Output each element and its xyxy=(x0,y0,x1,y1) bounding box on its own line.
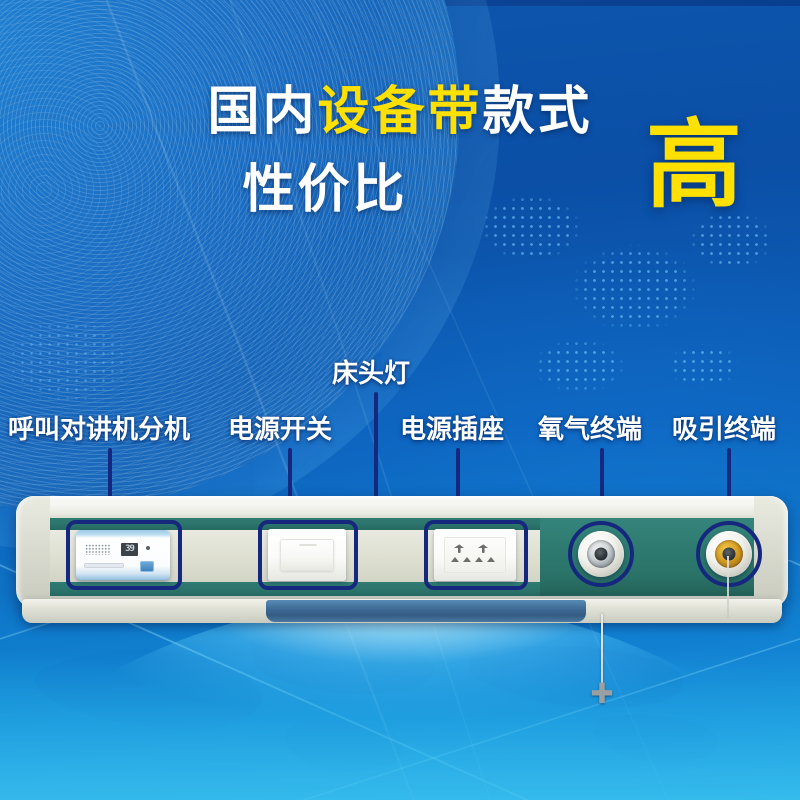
highlight-box-power-switch xyxy=(258,520,358,590)
callout-label-bedside-lamp: 床头灯 xyxy=(332,360,410,386)
bottom-glow-fill xyxy=(0,650,800,800)
highlight-circle-oxygen xyxy=(568,521,634,587)
highlight-box-intercom xyxy=(66,520,182,590)
callout-label-power-switch: 电源开关 xyxy=(228,416,332,442)
highlight-box-power-socket xyxy=(424,520,528,590)
pull-cord[interactable] xyxy=(601,614,603,688)
bedhead-panel: 39 xyxy=(16,496,788,624)
highlight-circle-suction xyxy=(696,521,762,587)
halftone-world-map-dots xyxy=(455,150,800,450)
callout-label-power-socket: 电源插座 xyxy=(400,416,504,442)
banner-stage: 国内设备带款式 性价比 高 呼叫对讲机分机 电源开关 床头灯 电源插座 氧气终端… xyxy=(0,0,800,800)
suction-hose-cord xyxy=(727,556,729,618)
callout-label-intercom: 呼叫对讲机分机 xyxy=(8,416,190,442)
callout-label-oxygen: 氧气终端 xyxy=(538,416,642,442)
panel-rail-reflection xyxy=(266,600,586,622)
cord-pull-handle-icon[interactable]: ✚ xyxy=(588,680,616,708)
panel-endcap-left xyxy=(16,496,50,608)
headline-big-word: 高 xyxy=(646,118,742,214)
callout-label-suction: 吸引终端 xyxy=(672,416,776,442)
